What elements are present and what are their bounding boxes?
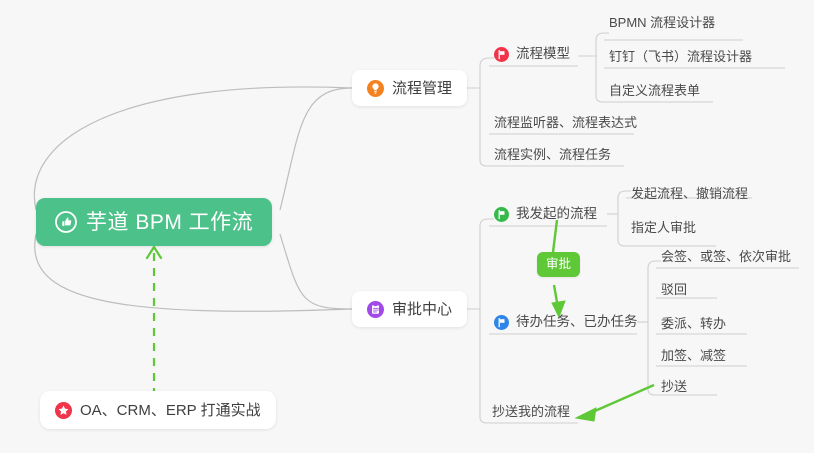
- green-arrow-cc-line: [588, 385, 654, 414]
- node-add-remove-sign[interactable]: 加签、减签: [659, 342, 730, 368]
- approval-tag[interactable]: 审批: [537, 252, 580, 277]
- node-todo-done-tasks[interactable]: 待办任务、已办任务: [492, 309, 642, 335]
- branch-node-process-management[interactable]: 流程管理: [352, 70, 467, 106]
- flag-circle-icon-red: [494, 47, 509, 62]
- node-label-assignee-approval: 指定人审批: [631, 221, 696, 234]
- green-arrow-cc-head: [576, 408, 596, 421]
- connector-root-to-approval-center: [280, 234, 352, 309]
- node-bpmn-designer[interactable]: BPMN 流程设计器: [607, 9, 719, 35]
- branch-label-approval-center: 审批中心: [392, 302, 452, 317]
- node-delegate-transfer[interactable]: 委派、转办: [659, 310, 730, 336]
- node-label-process-instance-task: 流程实例、流程任务: [494, 148, 611, 161]
- node-label-process-listener-expression: 流程监听器、流程表达式: [494, 116, 637, 129]
- mindmap-canvas: 芋道 BPM 工作流 OA、CRM、ERP 打通实战 流程管理: [0, 0, 814, 453]
- lightbulb-circle-icon: [367, 80, 384, 97]
- node-label-dingtalk-feishu-designer: 钉钉（飞书）流程设计器: [609, 50, 752, 63]
- connector-root-left-upper: [34, 87, 352, 210]
- branch-label-process-management: 流程管理: [392, 81, 452, 96]
- node-custom-process-form[interactable]: 自定义流程表单: [607, 77, 704, 103]
- node-countersign-orsign-sequential[interactable]: 会签、或签、依次审批: [659, 243, 795, 269]
- branch-node-approval-center[interactable]: 审批中心: [352, 291, 467, 327]
- flag-circle-icon-blue: [494, 315, 509, 330]
- node-label-todo-done-tasks: 待办任务、已办任务: [516, 315, 638, 329]
- node-label-delegate-transfer: 委派、转办: [661, 317, 726, 330]
- node-label-bpmn-designer: BPMN 流程设计器: [609, 16, 715, 29]
- flag-circle-icon-green: [494, 207, 509, 222]
- node-process-listener-expression[interactable]: 流程监听器、流程表达式: [492, 109, 641, 135]
- node-process-instance-task[interactable]: 流程实例、流程任务: [492, 141, 615, 167]
- document-circle-icon: [367, 301, 384, 318]
- node-label-cc-to-me-process: 抄送我的流程: [492, 405, 570, 418]
- node-cc-to-me-process[interactable]: 抄送我的流程: [490, 398, 574, 424]
- node-label-countersign-orsign-sequential: 会签、或签、依次审批: [661, 250, 791, 263]
- node-my-started-process[interactable]: 我发起的流程: [492, 201, 601, 227]
- green-arrow-approval-bottom: [554, 285, 558, 308]
- root-node[interactable]: 芋道 BPM 工作流: [36, 198, 272, 246]
- node-label-reject: 驳回: [661, 283, 687, 296]
- dashed-link-arrowhead: [147, 247, 161, 258]
- node-label-my-started-process: 我发起的流程: [516, 207, 597, 221]
- node-start-cancel-process[interactable]: 发起流程、撤销流程: [629, 180, 752, 206]
- star-circle-icon: [55, 402, 72, 419]
- node-label-custom-process-form: 自定义流程表单: [609, 84, 700, 97]
- root-node-label: 芋道 BPM 工作流: [86, 212, 253, 233]
- node-label-add-remove-sign: 加签、减签: [661, 349, 726, 362]
- node-label-carbon-copy: 抄送: [661, 380, 687, 393]
- thumbs-up-circle-icon: [55, 211, 77, 233]
- connector-root-to-process-management: [280, 88, 352, 210]
- node-label-start-cancel-process: 发起流程、撤销流程: [631, 187, 748, 200]
- node-reject[interactable]: 驳回: [659, 276, 691, 302]
- node-carbon-copy[interactable]: 抄送: [659, 373, 691, 399]
- node-dingtalk-feishu-designer[interactable]: 钉钉（飞书）流程设计器: [607, 43, 756, 69]
- node-assignee-approval[interactable]: 指定人审批: [629, 214, 700, 240]
- node-process-model[interactable]: 流程模型: [492, 41, 574, 67]
- node-label-process-model: 流程模型: [516, 47, 570, 61]
- bottom-note-label: OA、CRM、ERP 打通实战: [80, 403, 261, 418]
- bottom-note-node[interactable]: OA、CRM、ERP 打通实战: [40, 391, 276, 429]
